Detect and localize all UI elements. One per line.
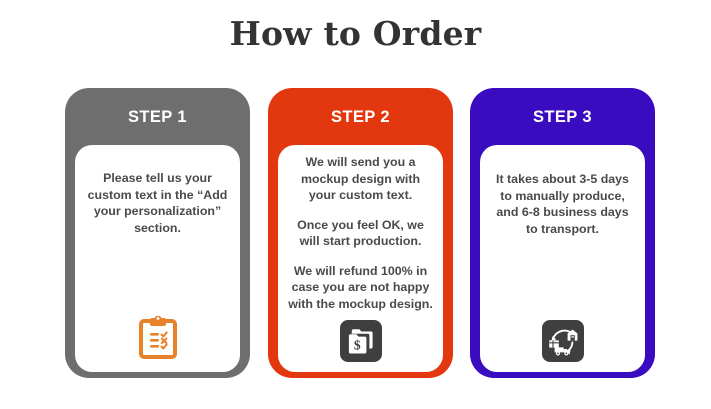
- steps-row: STEP 1 Please tell us your custom text i…: [0, 88, 711, 380]
- step-2-icon-slot: $: [278, 320, 443, 362]
- step-3-panel: It takes about 3-5 days to manually prod…: [480, 145, 645, 372]
- step-1-icon-slot: [75, 316, 240, 360]
- step-1-text: Please tell us your custom text in the “…: [75, 170, 240, 236]
- step-1-label: STEP 1: [65, 108, 250, 127]
- step-2-text: We will send you a mockup design with yo…: [278, 154, 443, 312]
- step-3-icon-slot: [480, 320, 645, 362]
- step-1-panel: Please tell us your custom text in the “…: [75, 145, 240, 372]
- clipboard-checklist-icon: [138, 316, 178, 360]
- step-card-2: STEP 2 We will send you a mockup design …: [268, 88, 453, 378]
- step-1-paragraph-1: Please tell us your custom text in the “…: [84, 170, 231, 236]
- step-card-1: STEP 1 Please tell us your custom text i…: [65, 88, 250, 378]
- step-2-paragraph-3: We will refund 100% in case you are not …: [287, 263, 434, 313]
- step-2-paragraph-2: Once you feel OK, we will start producti…: [287, 217, 434, 250]
- step-3-text: It takes about 3-5 days to manually prod…: [480, 171, 645, 237]
- step-2-panel: We will send you a mockup design with yo…: [278, 145, 443, 372]
- step-2-paragraph-1: We will send you a mockup design with yo…: [287, 154, 434, 204]
- page-title: How to Order: [0, 14, 711, 53]
- step-card-3: STEP 3 It takes about 3-5 days to manual…: [470, 88, 655, 378]
- step-2-label: STEP 2: [268, 108, 453, 127]
- step-3-paragraph-1: It takes about 3-5 days to manually prod…: [489, 171, 636, 237]
- money-folder-icon: $: [340, 320, 382, 362]
- how-to-order-infographic: How to Order STEP 1 Please tell us your …: [0, 0, 711, 409]
- delivery-truck-house-icon: [542, 320, 584, 362]
- step-3-label: STEP 3: [470, 108, 655, 127]
- svg-text:$: $: [353, 337, 360, 352]
